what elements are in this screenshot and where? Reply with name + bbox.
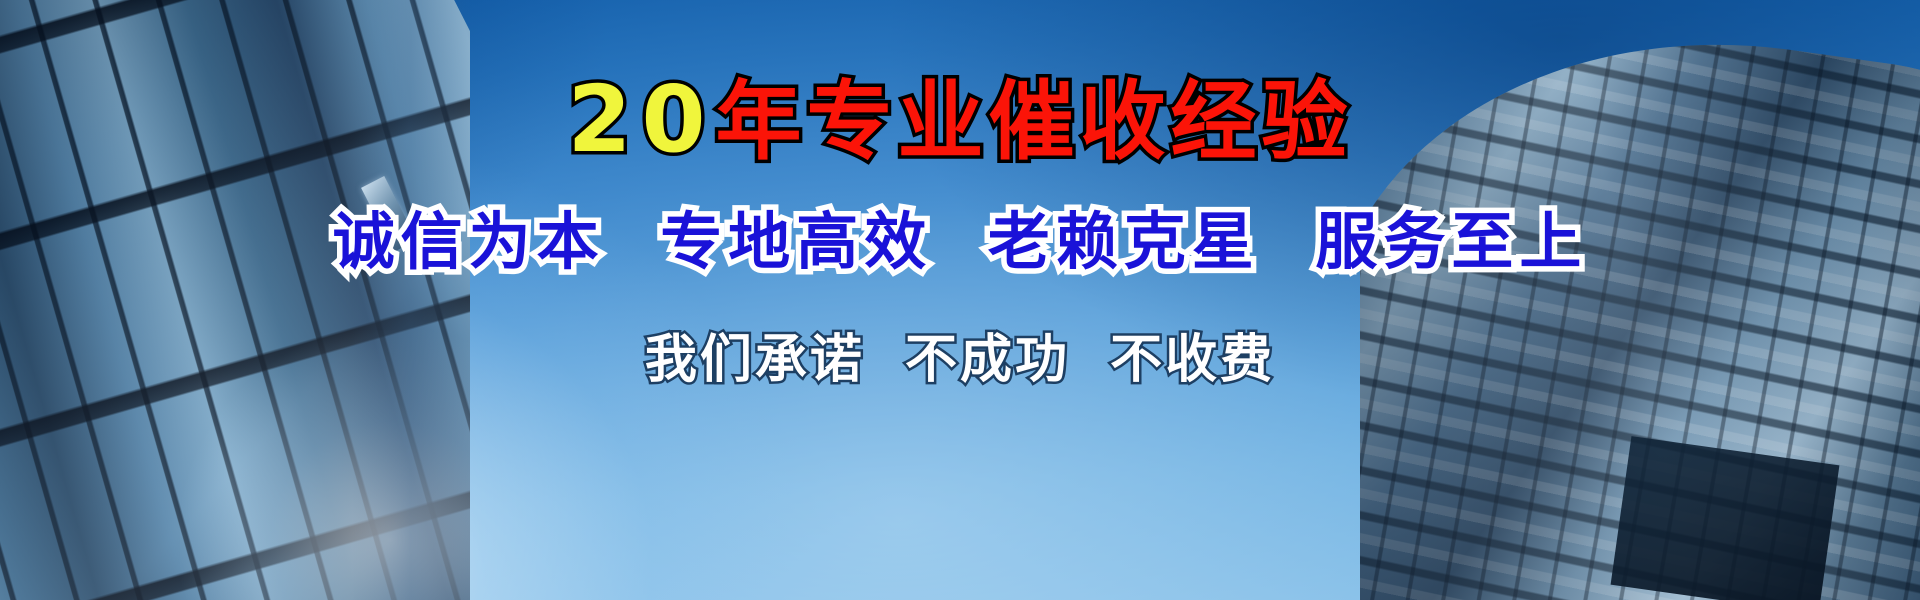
- slogan-part-2: 专地高效: [660, 205, 932, 278]
- promise-separator-2: [1070, 330, 1110, 390]
- headline-number: 20: [567, 66, 715, 173]
- promise-separator-1: [865, 330, 905, 390]
- headline: 20年专业催收经验: [567, 72, 1352, 169]
- slogan-part-3: 老赖克星: [988, 205, 1260, 278]
- slogan-part-4: 服务至上: [1315, 205, 1587, 278]
- promise-part-1: 我们承诺: [645, 330, 865, 390]
- slogan-separator-3: [1260, 205, 1316, 278]
- promotional-banner: 20年专业催收经验 诚信为本 专地高效 老赖克星 服务至上 我们承诺 不成功 不…: [0, 0, 1920, 600]
- promise-part-3: 不收费: [1110, 330, 1275, 390]
- promise-part-2: 不成功: [905, 330, 1070, 390]
- headline-text: 年专业催收经验: [716, 72, 1353, 172]
- text-overlay: 20年专业催收经验 诚信为本 专地高效 老赖克星 服务至上 我们承诺 不成功 不…: [0, 0, 1920, 600]
- slogan-line: 诚信为本 专地高效 老赖克星 服务至上: [333, 191, 1588, 281]
- slogan-separator-1: [605, 205, 661, 278]
- promise-line: 我们承诺 不成功 不收费: [645, 317, 1275, 392]
- slogan-part-1: 诚信为本: [333, 205, 605, 278]
- slogan-separator-2: [932, 205, 988, 278]
